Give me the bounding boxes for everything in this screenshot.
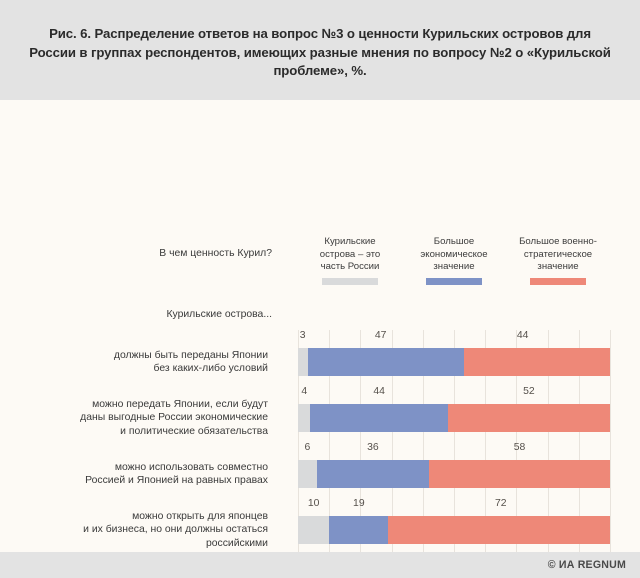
bar-value-label: 47 [375,330,387,341]
legend-item-2[interactable]: Большое экономическое значение [402,236,506,285]
bar-value-labels: 63658 [298,442,610,458]
category-label: можно использовать совместно Россией и Я… [18,461,268,488]
page-title: Рис. 6. Распределение ответов на вопрос … [26,25,614,81]
bar-row: 101972 [298,498,610,554]
stacked-bar[interactable] [298,460,610,488]
bar-segment-3[interactable] [388,516,610,544]
legend-item-3[interactable]: Большое военно- стратегическое значение [506,236,610,285]
bar-value-label: 19 [353,498,365,509]
axis-subhead-label: Курильские острова... [32,308,272,322]
chart-legend: Курильские острова – это часть РоссииБол… [298,236,610,285]
bar-row: 44452 [298,386,610,442]
bar-segment-1[interactable] [298,348,308,376]
bar-value-label: 44 [373,386,385,397]
bar-value-label: 6 [304,442,310,453]
legend-item-label: Курильские острова – это часть России [320,236,381,274]
axis-question-label: В чем ценность Курил? [32,247,272,261]
bar-value-label: 36 [367,442,379,453]
plot-area: 347444445263658101972171173 должны быть … [298,330,610,578]
bar-segment-2[interactable] [317,460,429,488]
bar-row: 63658 [298,442,610,498]
bar-segment-2[interactable] [329,516,388,544]
bar-value-label: 4 [301,386,307,397]
bar-value-label: 3 [300,330,306,341]
bar-rows: 347444445263658101972171173 [298,330,610,578]
bar-segment-1[interactable] [298,460,317,488]
stacked-bar[interactable] [298,348,610,376]
bar-value-labels: 44452 [298,386,610,402]
chart-header: Рис. 6. Распределение ответов на вопрос … [0,0,640,100]
legend-swatch-icon [322,278,378,285]
legend-item-1[interactable]: Курильские острова – это часть России [298,236,402,285]
bar-value-labels: 101972 [298,498,610,514]
chart-body: Курильские острова – это часть РоссииБол… [0,100,640,552]
bar-segment-3[interactable] [464,348,610,376]
bar-value-labels: 34744 [298,330,610,346]
bar-value-label: 52 [523,386,535,397]
bar-segment-2[interactable] [308,348,464,376]
category-label: должны быть переданы Японии без каких-ли… [18,349,268,376]
category-label: можно передать Японии, если будут даны в… [18,398,268,438]
stacked-bar[interactable] [298,404,610,432]
legend-item-label: Большое военно- стратегическое значение [519,236,597,274]
bar-row: 34744 [298,330,610,386]
stacked-bar[interactable] [298,516,610,544]
legend-swatch-icon [426,278,482,285]
bar-segment-1[interactable] [298,404,310,432]
bar-value-label: 58 [514,442,526,453]
bar-segment-1[interactable] [298,516,329,544]
bar-value-label: 44 [517,330,529,341]
gridline [610,330,611,578]
legend-swatch-icon [530,278,586,285]
category-label: можно открыть для японцев и их бизнеса, … [18,510,268,550]
bar-value-label: 72 [495,498,507,509]
bar-segment-2[interactable] [310,404,447,432]
chart-footer: © ИА REGNUM [0,552,640,578]
bar-segment-3[interactable] [448,404,610,432]
copyright-credit: © ИА REGNUM [548,559,626,571]
bar-value-label: 10 [308,498,320,509]
legend-item-label: Большое экономическое значение [420,236,487,274]
bar-segment-3[interactable] [429,460,610,488]
